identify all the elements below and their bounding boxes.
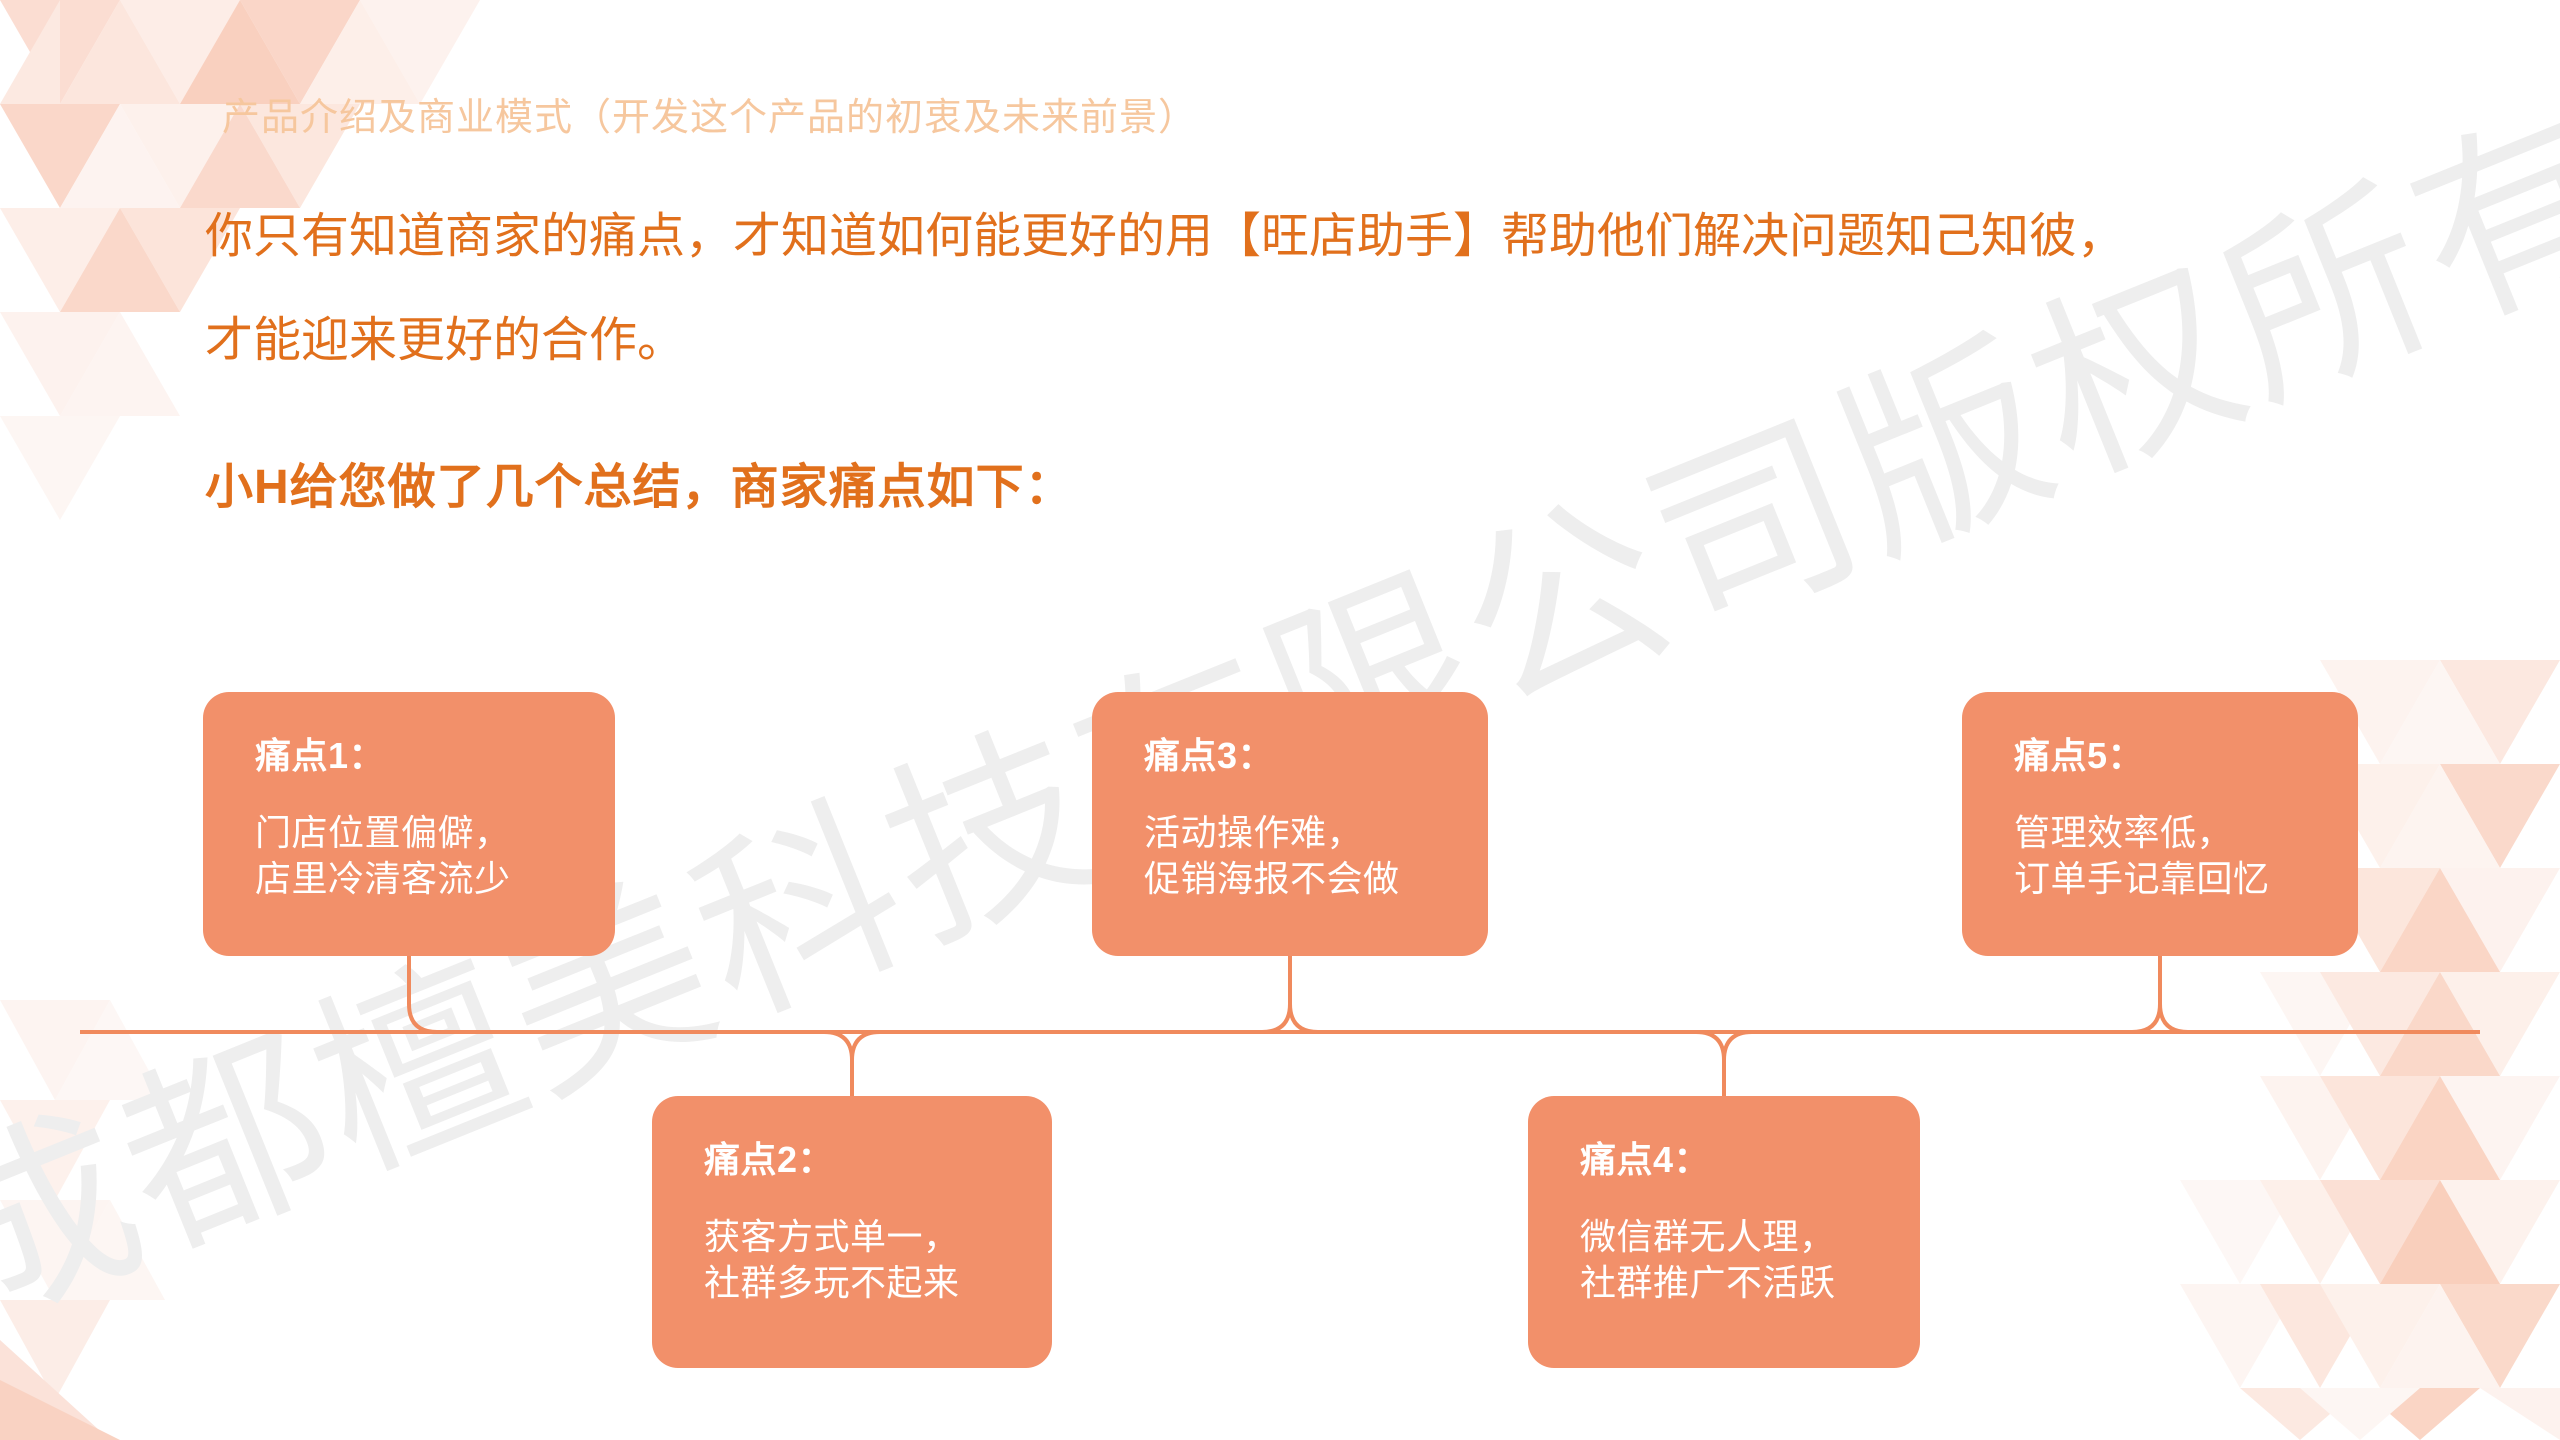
intro-paragraph-line-2: 才能迎来更好的合作。 (205, 300, 685, 370)
pain-point-card-4-body: 微信群无人理， 社群推广不活跃 (1580, 1214, 1920, 1306)
pain-point-card-5-title: 痛点5： (2014, 736, 2358, 776)
intro-paragraph-line-1: 你只有知道商家的痛点，才知道如何能更好的用【旺店助手】帮助他们解决问题知己知彼， (205, 196, 2125, 266)
pain-point-card-3-title: 痛点3： (1144, 736, 1488, 776)
pain-point-card-1-body: 门店位置偏僻， 店里冷清客流少 (255, 810, 615, 902)
summary-heading: 小H给您做了几个总结，商家痛点如下： (205, 447, 1074, 517)
pain-point-card-2[interactable]: 痛点2： 获客方式单一， 社群多玩不起来 (652, 1096, 1052, 1368)
pain-point-card-2-title: 痛点2： (704, 1140, 1052, 1180)
pain-point-card-4-title: 痛点4： (1580, 1140, 1920, 1180)
pain-point-card-1[interactable]: 痛点1： 门店位置偏僻， 店里冷清客流少 (203, 692, 615, 956)
pain-point-card-4[interactable]: 痛点4： 微信群无人理， 社群推广不活跃 (1528, 1096, 1920, 1368)
pain-point-card-5[interactable]: 痛点5： 管理效率低， 订单手记靠回忆 (1962, 692, 2358, 956)
slide-header-title: 产品介绍及商业模式（开发这个产品的初衷及未来前景） (222, 86, 1197, 141)
pain-point-card-2-body: 获客方式单一， 社群多玩不起来 (704, 1214, 1052, 1306)
pain-point-card-5-body: 管理效率低， 订单手记靠回忆 (2014, 810, 2358, 902)
pain-point-card-1-title: 痛点1： (255, 736, 615, 776)
pain-point-card-3-body: 活动操作难， 促销海报不会做 (1144, 810, 1488, 902)
slide-canvas: 成都檀美科技有限公司版权所有 产品介绍及商业模式（开发这个产品的初衷及未来前景）… (0, 0, 2560, 1440)
pain-point-card-3[interactable]: 痛点3： 活动操作难， 促销海报不会做 (1092, 692, 1488, 956)
slide-content: 产品介绍及商业模式（开发这个产品的初衷及未来前景） 你只有知道商家的痛点，才知道… (0, 0, 2560, 1440)
